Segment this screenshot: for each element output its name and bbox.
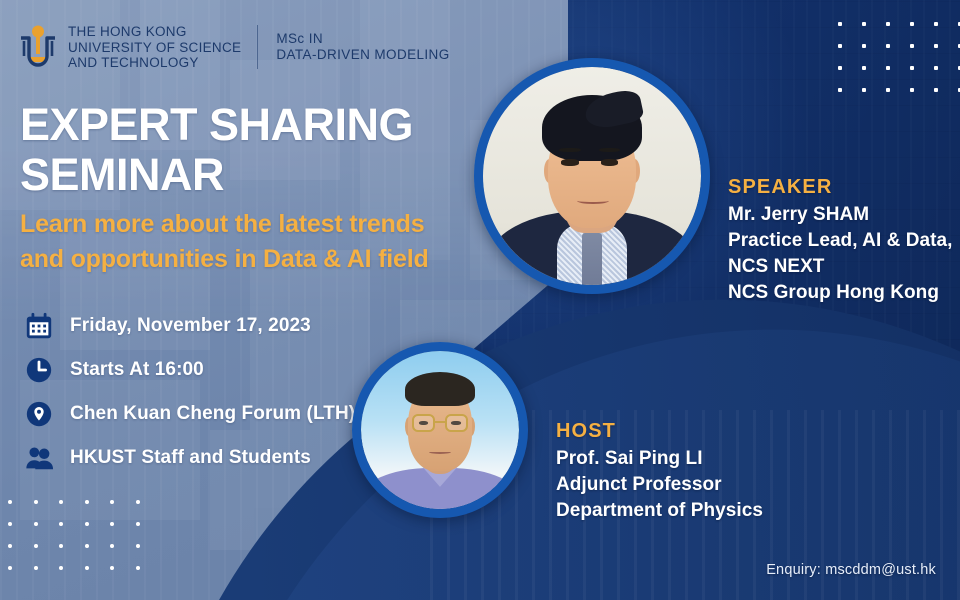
header: THE HONG KONG UNIVERSITY OF SCIENCE AND … xyxy=(18,24,450,71)
host-role-label: HOST xyxy=(556,420,763,443)
speaker-unit: NCS NEXT xyxy=(728,254,952,280)
event-time: Starts At 16:00 xyxy=(70,359,204,381)
hkust-logo-icon xyxy=(18,24,58,70)
event-details-list: Friday, November 17, 2023 Starts At 16:0… xyxy=(22,304,355,480)
dot-grid-top-right xyxy=(838,22,960,106)
list-item: Friday, November 17, 2023 xyxy=(22,304,355,348)
enquiry-text: Enquiry: mscddm@ust.hk xyxy=(766,562,936,578)
speaker-info: SPEAKER Mr. Jerry SHAM Practice Lead, AI… xyxy=(728,176,952,306)
speaker-avatar xyxy=(474,58,710,294)
event-audience: HKUST Staff and Students xyxy=(70,447,311,469)
event-venue: Chen Kuan Cheng Forum (LTH) xyxy=(70,403,355,425)
event-date: Friday, November 17, 2023 xyxy=(70,315,311,337)
calendar-icon xyxy=(22,309,56,343)
seminar-poster: THE HONG KONG UNIVERSITY OF SCIENCE AND … xyxy=(0,0,960,600)
list-item: Chen Kuan Cheng Forum (LTH) xyxy=(22,392,355,436)
clock-icon xyxy=(22,353,56,387)
host-avatar xyxy=(352,342,528,518)
list-item: Starts At 16:00 xyxy=(22,348,355,392)
speaker-name: Mr. Jerry SHAM xyxy=(728,202,952,228)
speaker-role-label: SPEAKER xyxy=(728,176,952,199)
people-icon xyxy=(22,441,56,475)
page-title: EXPERT SHARING SEMINAR xyxy=(20,100,413,200)
page-subtitle: Learn more about the latest trends and o… xyxy=(20,207,429,277)
host-department: Department of Physics xyxy=(556,498,763,524)
dot-grid-bottom-left xyxy=(8,500,142,584)
university-name: THE HONG KONG UNIVERSITY OF SCIENCE AND … xyxy=(68,24,241,71)
host-info: HOST Prof. Sai Ping LI Adjunct Professor… xyxy=(556,420,763,524)
speaker-title: Practice Lead, AI & Data, xyxy=(728,228,952,254)
header-divider xyxy=(257,25,258,69)
programme-name: MSc IN DATA-DRIVEN MODELING xyxy=(276,31,449,64)
host-name: Prof. Sai Ping LI xyxy=(556,446,763,472)
host-title: Adjunct Professor xyxy=(556,472,763,498)
speaker-organisation: NCS Group Hong Kong xyxy=(728,280,952,306)
list-item: HKUST Staff and Students xyxy=(22,436,355,480)
location-pin-icon xyxy=(22,397,56,431)
